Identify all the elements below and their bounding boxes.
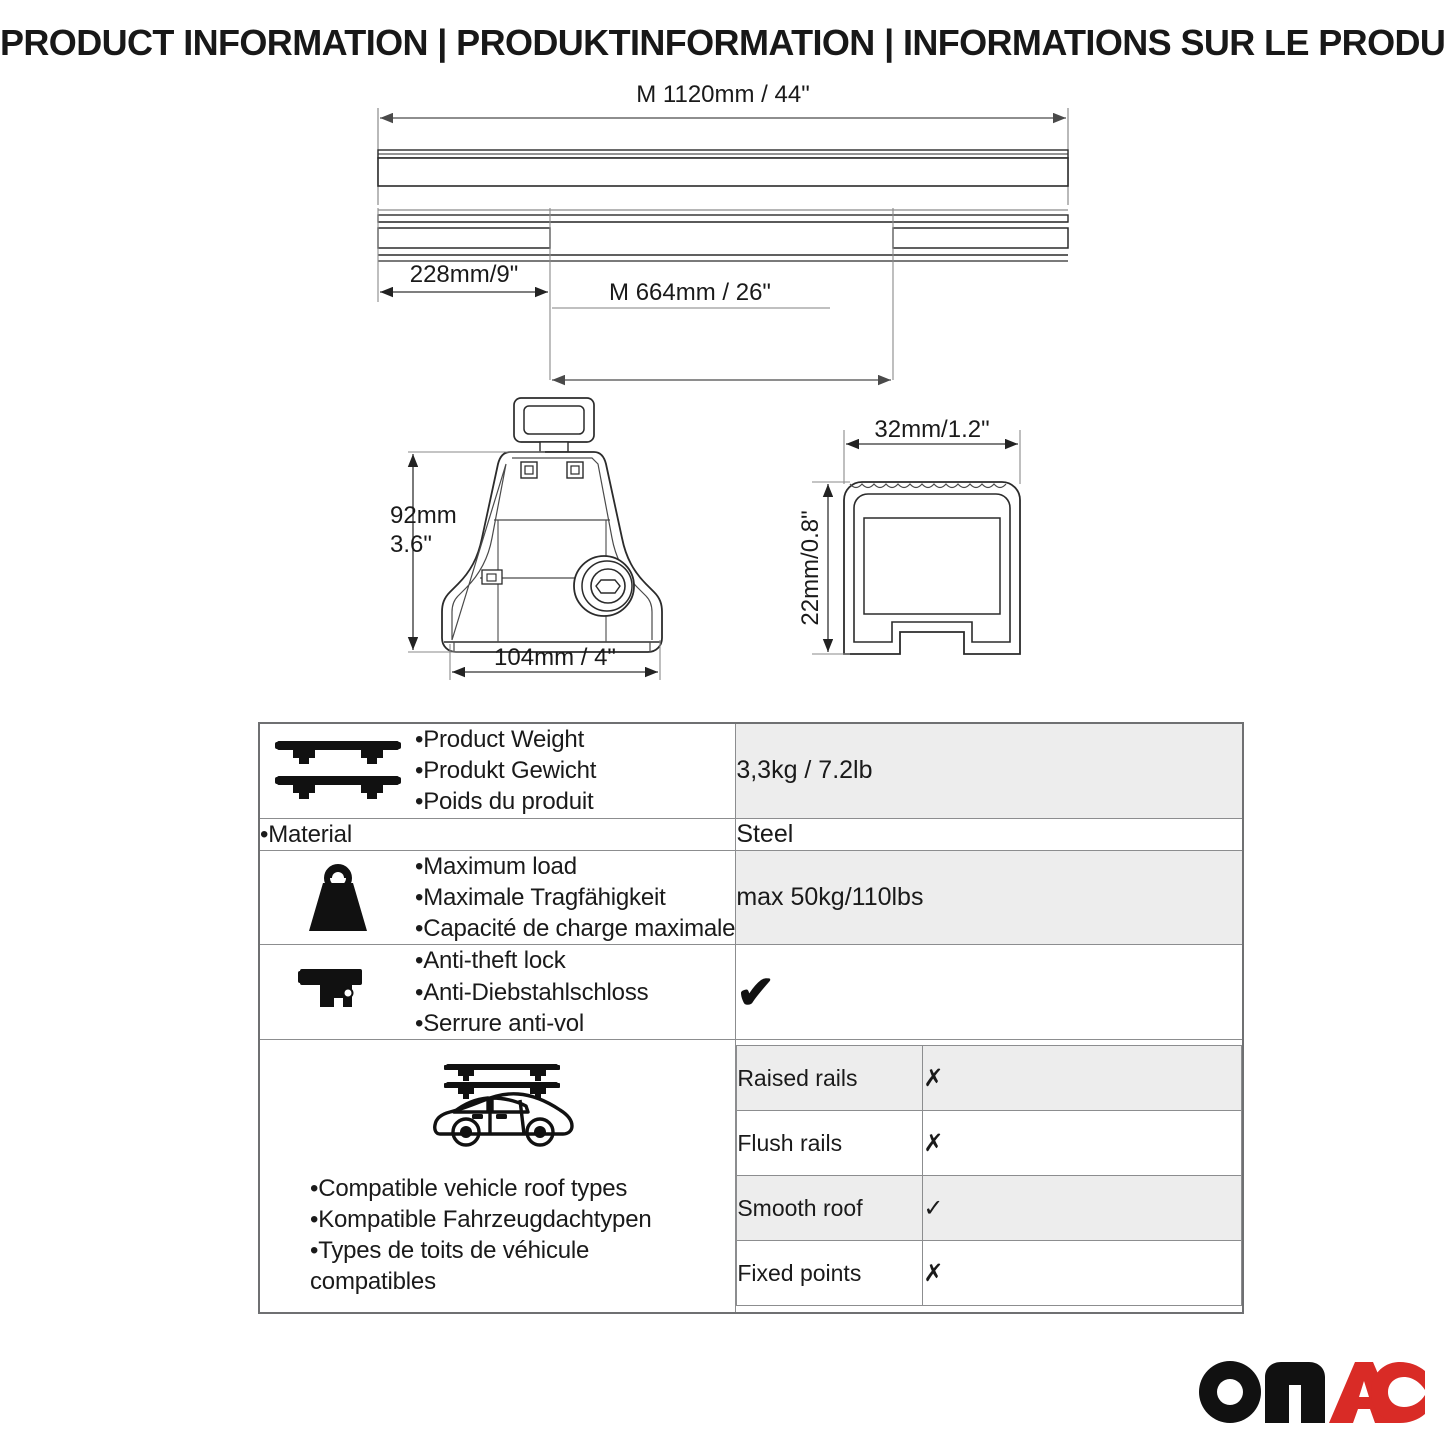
roof-type-mark: ✓ <box>923 1176 1242 1241</box>
row-label-text: •Product Weight •Produkt Gewicht •Poids … <box>415 724 596 818</box>
row-label-text: •Anti-theft lock •Anti-Diebstahlschloss … <box>415 945 648 1039</box>
roof-type-mark: ✗ <box>923 1111 1242 1176</box>
label-line-en: •Anti-theft lock <box>415 945 648 976</box>
table-row: •Maximum load •Maximale Tragfähigkeit •C… <box>259 850 1243 945</box>
material-value: Steel <box>736 818 1243 850</box>
roof-type-row: Fixed points ✗ <box>737 1241 1242 1306</box>
label-line-en: •Product Weight <box>415 724 596 755</box>
label-line-de: •Produkt Gewicht <box>415 755 596 786</box>
label-line-fr: •Types de toits de véhicule <box>310 1235 721 1266</box>
product-weight-value: 3,3kg / 7.2lb <box>736 723 1243 818</box>
label-line-en: •Maximum load <box>415 851 735 882</box>
car-with-rack-icon <box>280 1058 727 1163</box>
compatibility-label-cell: •Compatible vehicle roof types •Kompatib… <box>259 1039 736 1312</box>
roof-type-name: Smooth roof <box>737 1176 923 1241</box>
roof-types-table: Raised rails ✗ Flush rails ✗ Smooth roof… <box>736 1045 1242 1306</box>
row-label-cell: •Material <box>259 818 736 850</box>
roof-type-name: Flush rails <box>737 1111 923 1176</box>
label-line-fr-cont: compatibles <box>310 1266 721 1297</box>
logo-ac-mark <box>1329 1362 1425 1423</box>
weight-icon <box>260 863 415 933</box>
row-label-cell: •Maximum load •Maximale Tragfähigkeit •C… <box>259 850 736 945</box>
maximum-load-value: max 50kg/110lbs <box>736 850 1243 945</box>
row-label-cell: •Anti-theft lock •Anti-Diebstahlschloss … <box>259 945 736 1040</box>
table-row-compatibility: •Compatible vehicle roof types •Kompatib… <box>259 1039 1243 1312</box>
table-row: •Anti-theft lock •Anti-Diebstahlschloss … <box>259 945 1243 1040</box>
lock-bar-icon <box>260 963 415 1021</box>
table-row: •Material Steel <box>259 818 1243 850</box>
logo-om-mark <box>1199 1361 1325 1423</box>
roof-type-row: Smooth roof ✓ <box>737 1176 1242 1241</box>
label-line-fr: •Poids du produit <box>415 786 596 817</box>
roof-type-name: Raised rails <box>737 1046 923 1111</box>
dim-profile-width: 32mm/1.2" <box>874 416 989 443</box>
label-line-en: •Compatible vehicle roof types <box>310 1173 721 1204</box>
anti-theft-lock-value: ✔ <box>736 945 1243 1040</box>
dim-foot-width: 104mm / 4" <box>494 644 616 671</box>
roof-types-cell: Raised rails ✗ Flush rails ✗ Smooth roof… <box>736 1039 1243 1312</box>
two-crossbars-icon <box>260 735 415 807</box>
label-line-fr: •Serrure anti-vol <box>415 1008 648 1039</box>
label-line-fr: •Capacité de charge maximale <box>415 913 735 944</box>
label-line-de: •Anti-Diebstahlschloss <box>415 977 648 1008</box>
technical-drawing: M 1120mm / 44" 228mm/9" M 664mm / 26" 92… <box>0 80 1445 710</box>
table-row: •Product Weight •Produkt Gewicht •Poids … <box>259 723 1243 818</box>
roof-type-row: Raised rails ✗ <box>737 1046 1242 1111</box>
dim-foot-offset: 228mm/9" <box>410 261 519 288</box>
label-line-de: •Kompatible Fahrzeugdachtypen <box>310 1204 721 1235</box>
label-line-en: •Material <box>260 819 735 850</box>
roof-type-name: Fixed points <box>737 1241 923 1306</box>
page-title: PRODUCT INFORMATION | PRODUKTINFORMATION… <box>0 22 1445 64</box>
dim-foot-height-mm: 92mm <box>390 502 457 529</box>
row-label-text: •Maximum load •Maximale Tragfähigkeit •C… <box>415 851 735 945</box>
roof-type-mark: ✗ <box>923 1241 1242 1306</box>
checkmark-icon: ✔ <box>736 966 775 1018</box>
row-label-cell: •Product Weight •Produkt Gewicht •Poids … <box>259 723 736 818</box>
omac-logo <box>1197 1355 1427 1429</box>
specification-table: •Product Weight •Produkt Gewicht •Poids … <box>258 722 1244 1314</box>
dim-bar-span: M 664mm / 26" <box>609 279 771 306</box>
dim-foot-height-in: 3.6" <box>390 531 432 558</box>
compatibility-label-text: •Compatible vehicle roof types •Kompatib… <box>268 1173 727 1298</box>
roof-type-mark: ✗ <box>923 1046 1242 1111</box>
dim-profile-height: 22mm/0.8" <box>797 510 824 625</box>
label-line-de: •Maximale Tragfähigkeit <box>415 882 735 913</box>
roof-type-row: Flush rails ✗ <box>737 1111 1242 1176</box>
row-label-text: •Material <box>260 819 735 850</box>
dim-bar-length: M 1120mm / 44" <box>636 81 809 108</box>
